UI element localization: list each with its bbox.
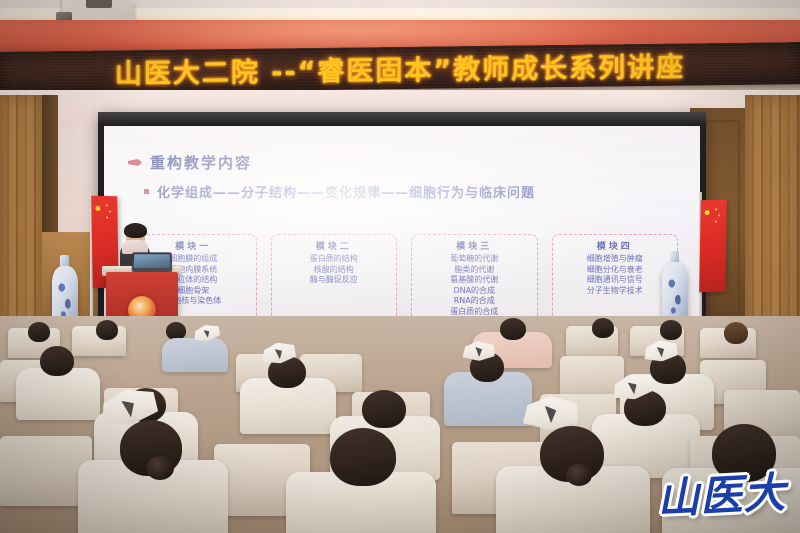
module-item: 蛋白质的结构 bbox=[275, 254, 394, 265]
module-box-4: 模块四 细胞增殖与肿瘤 细胞分化与衰老 细胞通讯与信号 分子生物学技术 bbox=[552, 234, 679, 324]
arrow-bullet-icon bbox=[128, 159, 142, 166]
audience-head bbox=[330, 428, 396, 486]
screen-top-bar bbox=[98, 112, 706, 126]
slide-heading-row: 重构教学内容 bbox=[128, 152, 680, 173]
audience-head bbox=[660, 320, 682, 340]
speaker-hair bbox=[124, 223, 147, 238]
module-title: 模块一 bbox=[134, 239, 253, 252]
module-item: 酶与酶促反应 bbox=[275, 275, 394, 286]
audience-head bbox=[592, 318, 614, 338]
hair-bun bbox=[146, 456, 174, 480]
projection-screen-frame: 重构教学内容 化学组成——分子结构——变化规律——细胞行为与临床问题 模块一 细… bbox=[98, 112, 706, 330]
audience-head bbox=[724, 322, 748, 344]
module-item: DNA的合成 bbox=[415, 286, 534, 297]
module-item: 葡萄糖的代谢 bbox=[415, 254, 534, 265]
module-title: 模块四 bbox=[556, 239, 675, 252]
module-item: RNA的合成 bbox=[415, 296, 534, 307]
audience-head bbox=[96, 320, 118, 340]
audience-head bbox=[500, 318, 526, 340]
laptop-icon bbox=[132, 252, 173, 272]
module-item: 核酸的结构 bbox=[275, 265, 394, 276]
projection-screen: 重构教学内容 化学组成——分子结构——变化规律——细胞行为与临床问题 模块一 细… bbox=[104, 126, 700, 324]
module-item: 细胞分化与衰老 bbox=[556, 265, 675, 276]
wood-panel-right bbox=[745, 95, 800, 340]
audience-head bbox=[40, 346, 74, 376]
slide-subheading: 化学组成——分子结构——变化规律——细胞行为与临床问题 bbox=[157, 182, 535, 201]
square-bullet-icon bbox=[144, 189, 149, 194]
module-item: 细胞通讯与信号 bbox=[556, 275, 675, 286]
module-title: 模块二 bbox=[275, 239, 394, 252]
audience-head bbox=[362, 390, 406, 428]
module-row: 模块一 细胞膜的组成 细胞内膜系统 线粒体的结构 细胞骨架 细胞核与染色体 模块… bbox=[130, 234, 678, 324]
projector-mount bbox=[86, 0, 112, 8]
module-box-2: 模块二 蛋白质的结构 核酸的结构 酶与酶促反应 bbox=[271, 234, 398, 324]
wood-panel-left bbox=[0, 95, 42, 340]
hair-bun bbox=[566, 464, 592, 486]
module-item: 分子生物学技术 bbox=[556, 286, 675, 297]
slide-content: 重构教学内容 化学组成——分子结构——变化规律——细胞行为与临床问题 模块一 细… bbox=[104, 126, 700, 324]
module-item: 细胞增殖与肿瘤 bbox=[556, 254, 675, 265]
audience-head bbox=[28, 322, 50, 342]
watermark-logo: 山医大 bbox=[655, 459, 787, 527]
laptop-screen bbox=[134, 254, 170, 268]
slide-heading: 重构教学内容 bbox=[150, 152, 252, 173]
audience-torso bbox=[162, 338, 228, 372]
module-item: 脂类的代谢 bbox=[415, 265, 534, 276]
module-item: 氨基酸的代谢 bbox=[415, 275, 534, 286]
lecture-hall-photo: 山医大二院 --“睿医固本”教师成长系列讲座 重构教学内容 化学组成——分子结构… bbox=[0, 0, 800, 533]
chair[interactable] bbox=[560, 356, 624, 398]
module-box-3: 模块三 葡萄糖的代谢 脂类的代谢 氨基酸的代谢 DNA的合成 RNA的合成 蛋白… bbox=[411, 234, 538, 324]
flag-right-icon bbox=[699, 200, 727, 292]
slide-subheading-row: 化学组成——分子结构——变化规律——细胞行为与临床问题 bbox=[144, 182, 680, 201]
module-title: 模块三 bbox=[415, 239, 534, 252]
